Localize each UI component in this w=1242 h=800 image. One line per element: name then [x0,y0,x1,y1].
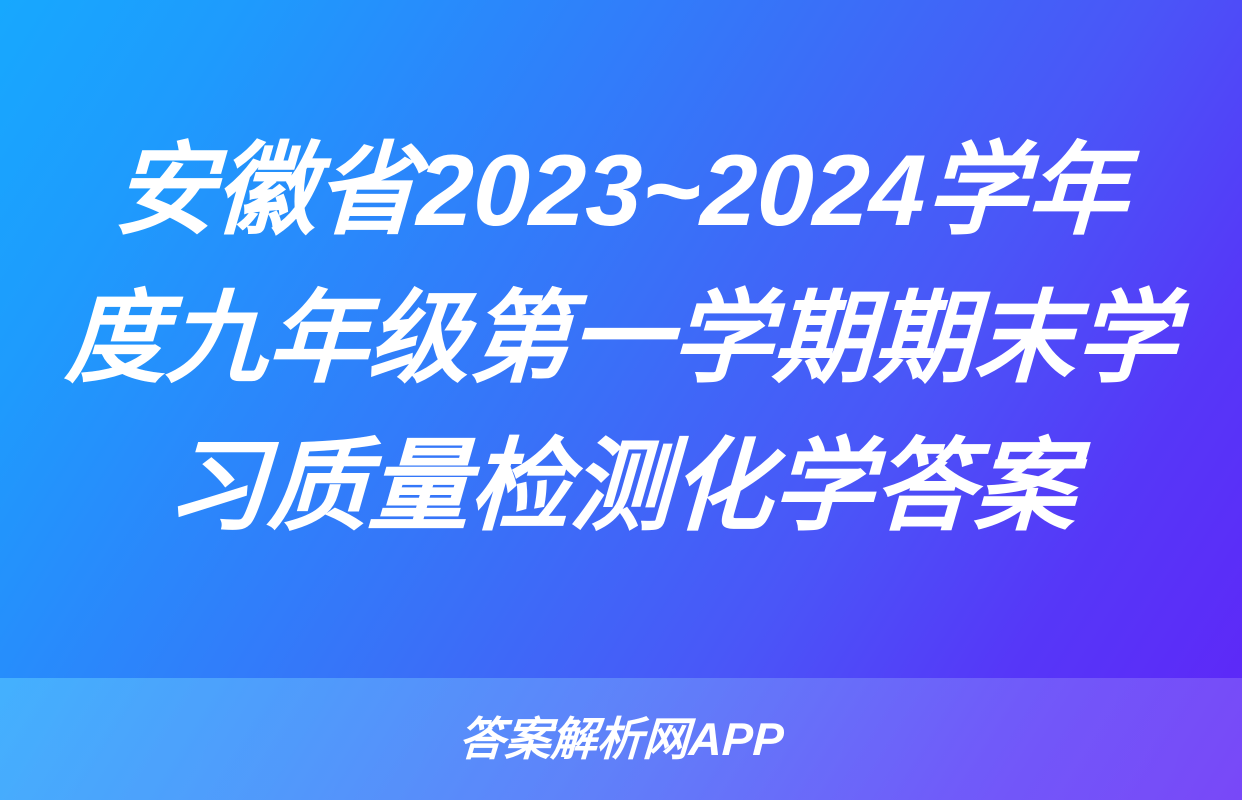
poster-title-line-3: 习质量检测化学答案 [37,413,1204,561]
poster-title-line-2: 度九年级第一学期期末学 [37,265,1204,413]
app-watermark-label: 答案解析网APP [457,716,784,762]
poster-title-line-1: 安徽省2023~2024学年 [37,117,1204,265]
poster-footer-band: 答案解析网APP [0,678,1242,800]
poster-canvas: 安徽省2023~2024学年 度九年级第一学期期末学 习质量检测化学答案 答案解… [0,0,1242,800]
poster-title-block: 安徽省2023~2024学年 度九年级第一学期期末学 习质量检测化学答案 [0,0,1242,678]
